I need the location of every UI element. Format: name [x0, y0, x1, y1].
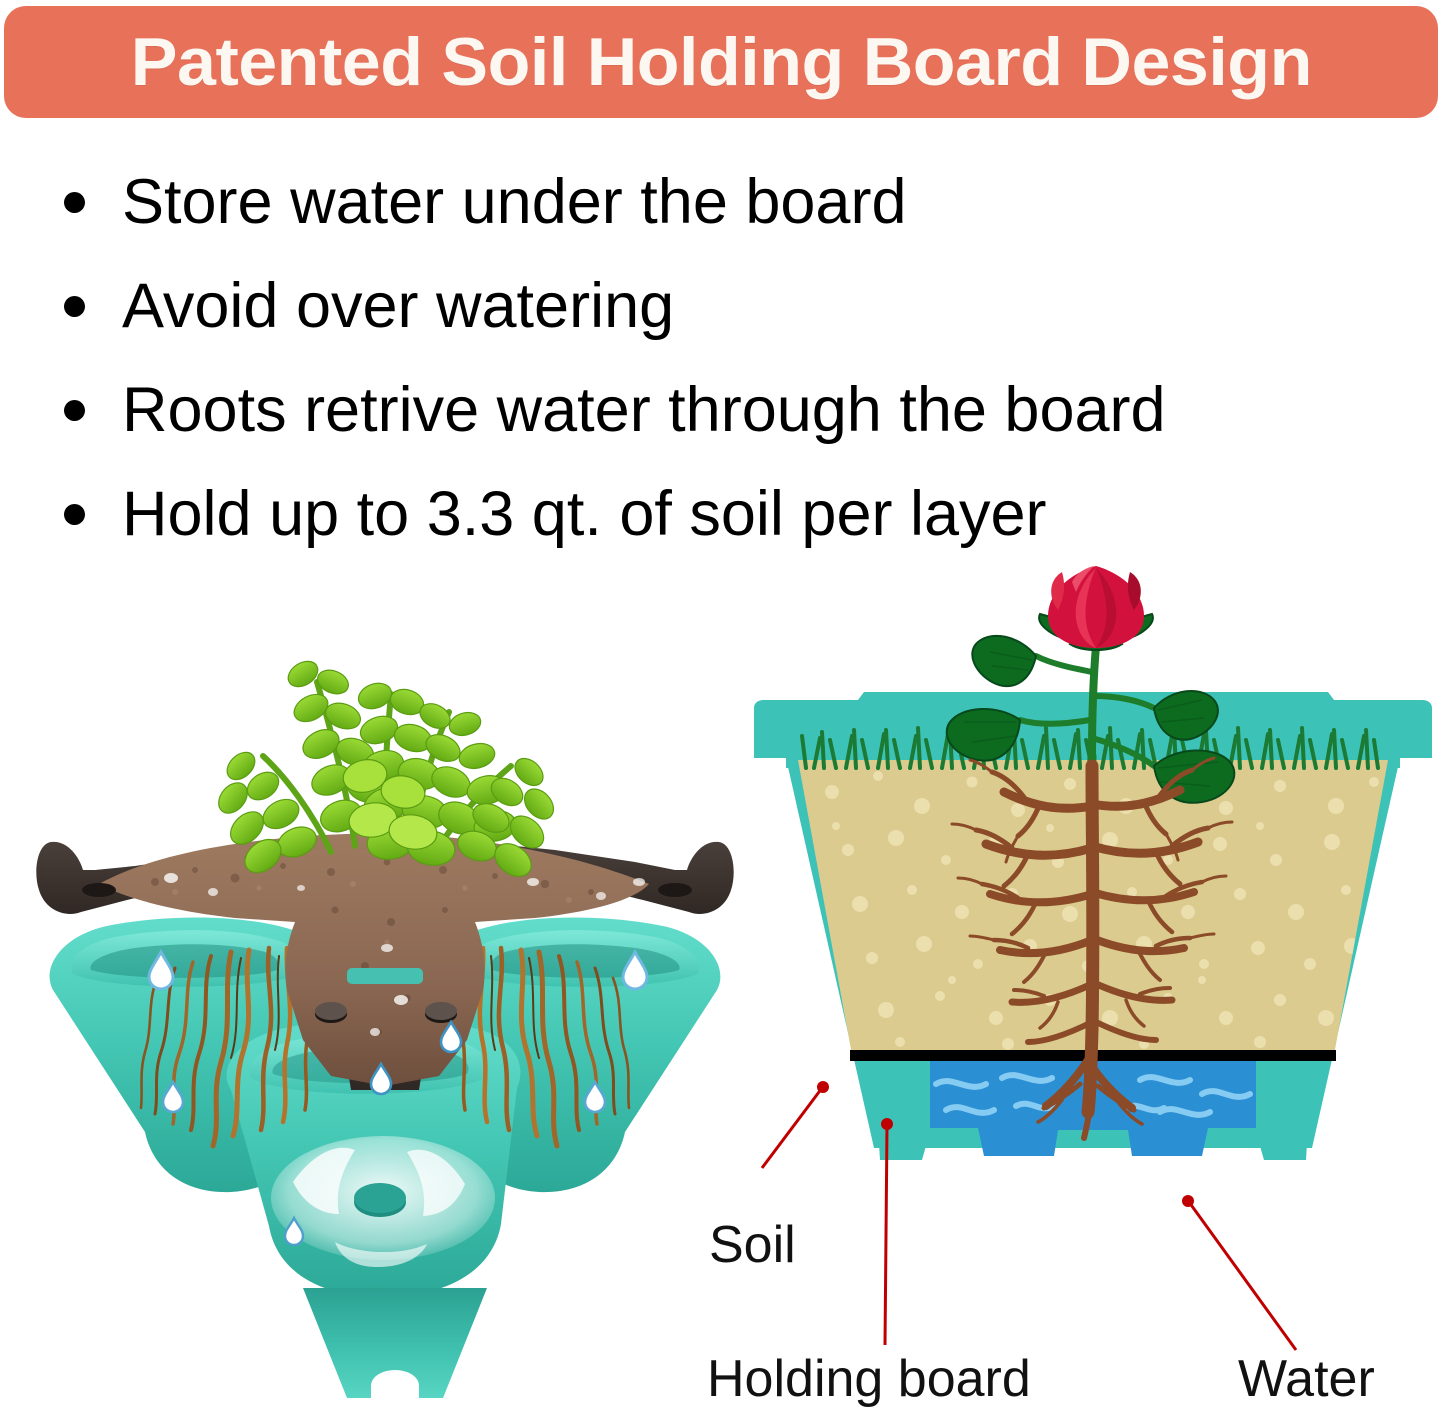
holding-board-leader-dot: [881, 1118, 893, 1130]
list-item: Hold up to 3.3 qt. of soil per layer: [0, 462, 1445, 566]
bullet-dot-icon: [64, 400, 85, 421]
holding-board-leader-line: [885, 1125, 887, 1345]
soil-leader-line: [762, 1088, 822, 1168]
figures-area: Soil Holding board Water: [0, 560, 1445, 1415]
list-item-label: Roots retrive water through the board: [122, 379, 1166, 442]
list-item: Avoid over watering: [0, 254, 1445, 358]
page-title: Patented Soil Holding Board Design: [130, 28, 1311, 96]
water-leader-line: [1189, 1202, 1296, 1350]
list-item: Store water under the board: [0, 150, 1445, 254]
callout-leader-lines: [0, 560, 1445, 1415]
header-banner: Patented Soil Holding Board Design: [4, 6, 1438, 118]
bullet-dot-icon: [64, 296, 85, 317]
bullet-dot-icon: [64, 504, 85, 525]
bullet-dot-icon: [64, 192, 85, 213]
list-item: Roots retrive water through the board: [0, 358, 1445, 462]
callout-label-water: Water: [1238, 1353, 1375, 1405]
water-leader-dot: [1182, 1195, 1194, 1207]
feature-bullet-list: Store water under the board Avoid over w…: [0, 150, 1445, 566]
list-item-label: Store water under the board: [122, 171, 907, 234]
list-item-label: Hold up to 3.3 qt. of soil per layer: [122, 483, 1047, 546]
callout-label-holding-board: Holding board: [707, 1353, 1031, 1405]
soil-leader-dot: [817, 1081, 829, 1093]
list-item-label: Avoid over watering: [122, 275, 674, 338]
callout-label-soil: Soil: [709, 1219, 796, 1271]
infographic-page: Patented Soil Holding Board Design Store…: [0, 0, 1445, 1415]
